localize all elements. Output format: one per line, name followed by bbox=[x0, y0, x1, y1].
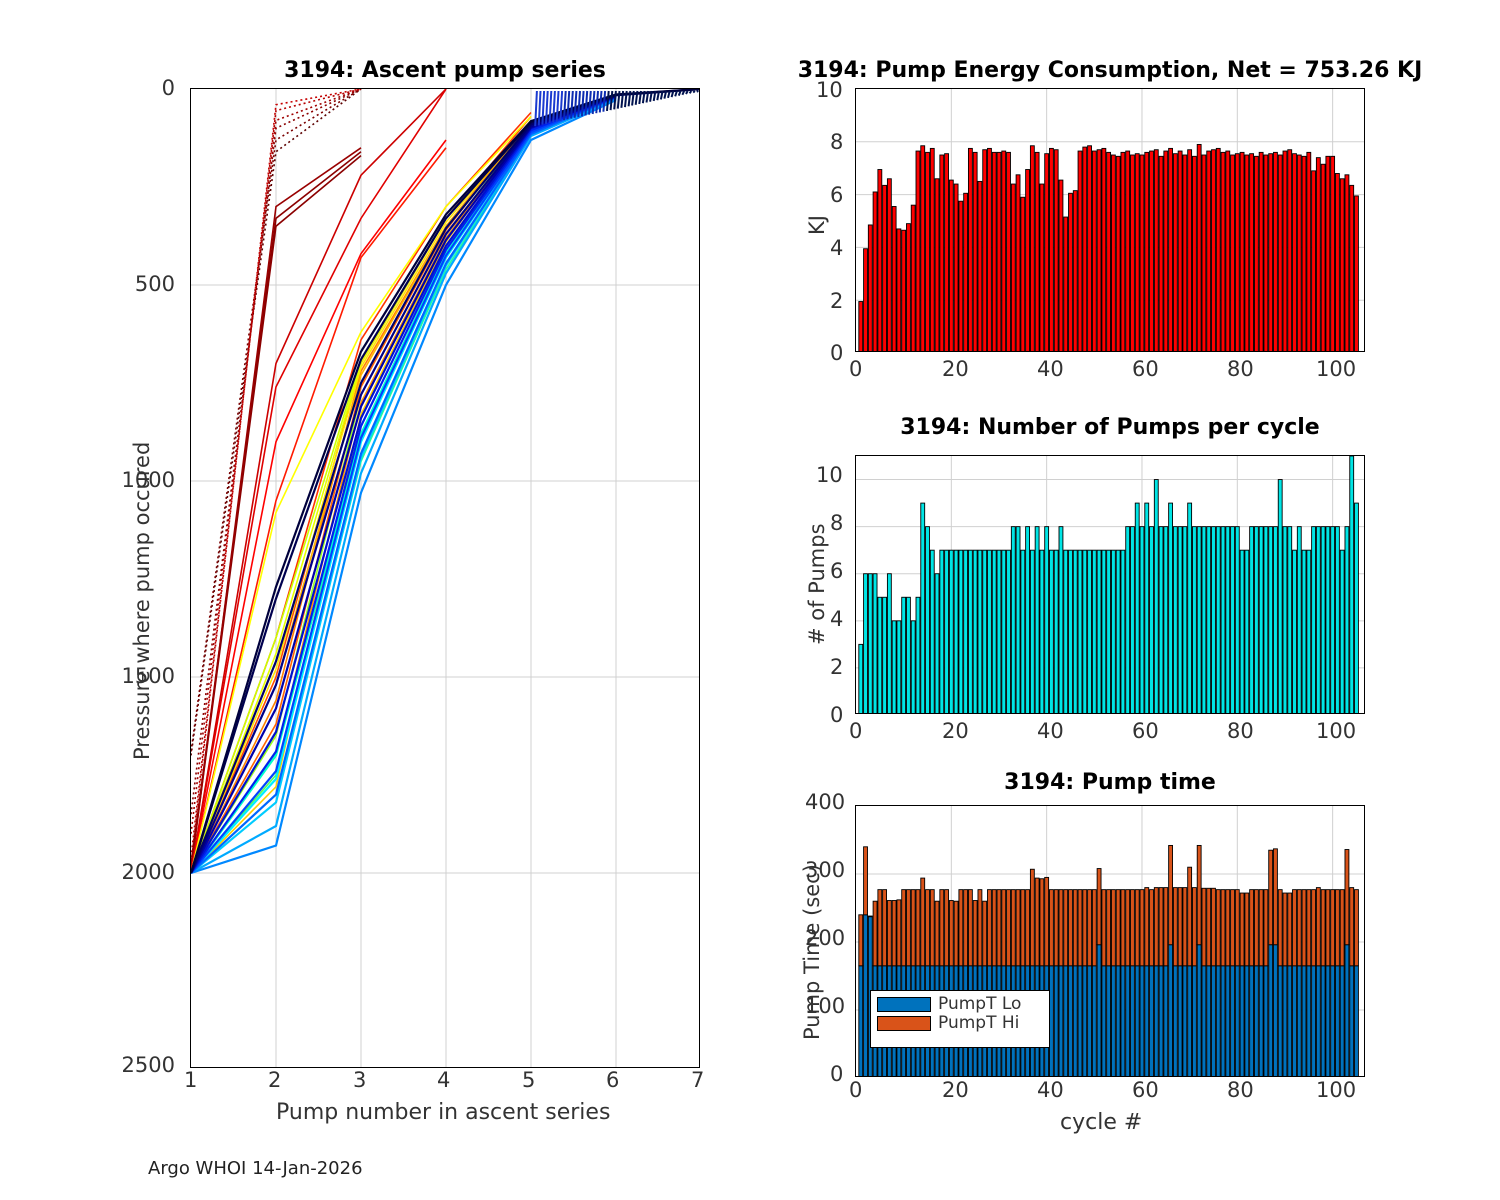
pumptime-xtick-0: 0 bbox=[849, 1078, 862, 1102]
ascent-pump-series-panel: 3194: Ascent pump series Pressure where … bbox=[0, 0, 740, 1140]
pumptime-plot-title: 3194: Pump time bbox=[860, 770, 1360, 795]
pumptime-ytick-100: 100 bbox=[805, 994, 845, 1018]
ascent-lines-svg bbox=[191, 89, 700, 1068]
ascent-xtick-7: 7 bbox=[691, 1068, 704, 1092]
ascent-ytick-1500: 1500 bbox=[122, 664, 175, 688]
ascent-x-axis-label: Pump number in ascent series bbox=[276, 1100, 610, 1125]
pumptime-xtick-40: 40 bbox=[1037, 1078, 1064, 1102]
ascent-plot-area bbox=[190, 88, 700, 1068]
legend-label-pumpt-lo: PumpT Lo bbox=[938, 996, 1021, 1013]
pumptime-x-axis-label: cycle # bbox=[1060, 1110, 1142, 1135]
energy-ytick-8: 8 bbox=[830, 130, 843, 154]
pumps-plot-area bbox=[855, 455, 1365, 714]
ascent-ytick-2000: 2000 bbox=[122, 860, 175, 884]
ascent-xtick-5: 5 bbox=[522, 1068, 535, 1092]
pumps-ytick-8: 8 bbox=[830, 511, 843, 535]
pumptime-xtick-100: 100 bbox=[1316, 1078, 1356, 1102]
pumps-ytick-4: 4 bbox=[830, 607, 843, 631]
ascent-xtick-2: 2 bbox=[268, 1068, 281, 1092]
energy-ytick-4: 4 bbox=[830, 236, 843, 260]
pumps-ytick-10: 10 bbox=[816, 463, 843, 487]
pumptime-xtick-20: 20 bbox=[942, 1078, 969, 1102]
energy-plot-title: 3194: Pump Energy Consumption, Net = 753… bbox=[760, 58, 1460, 83]
pumps-ytick-6: 6 bbox=[830, 559, 843, 583]
ascent-xtick-4: 4 bbox=[437, 1068, 450, 1092]
pumps-per-cycle-panel: 3194: Number of Pumps per cycle # of Pum… bbox=[760, 355, 1500, 745]
ascent-ytick-1000: 1000 bbox=[122, 468, 175, 492]
pumps-bars-svg bbox=[856, 456, 1365, 714]
pumptime-ytick-400: 400 bbox=[805, 790, 845, 814]
pumptime-ytick-200: 200 bbox=[805, 926, 845, 950]
pumps-ytick-2: 2 bbox=[830, 655, 843, 679]
figure-footer: Argo WHOI 14-Jan-2026 bbox=[148, 1158, 363, 1179]
legend-label-pumpt-hi: PumpT Hi bbox=[938, 1015, 1019, 1032]
energy-ytick-2: 2 bbox=[830, 289, 843, 313]
ascent-plot-title: 3194: Ascent pump series bbox=[190, 58, 700, 83]
legend-swatch-pumpt-hi bbox=[877, 1016, 931, 1031]
ascent-xtick-3: 3 bbox=[353, 1068, 366, 1092]
energy-plot-area bbox=[855, 88, 1365, 352]
ascent-ytick-0: 0 bbox=[162, 76, 175, 100]
legend-swatch-pumpt-lo bbox=[877, 997, 931, 1012]
ascent-xtick-1: 1 bbox=[184, 1068, 197, 1092]
ascent-ytick-2500: 2500 bbox=[122, 1053, 175, 1077]
energy-y-axis-label: KJ bbox=[805, 215, 829, 235]
pumptime-xtick-60: 60 bbox=[1132, 1078, 1159, 1102]
pumps-plot-title: 3194: Number of Pumps per cycle bbox=[820, 415, 1400, 440]
energy-ytick-6: 6 bbox=[830, 183, 843, 207]
pumptime-xtick-80: 80 bbox=[1227, 1078, 1254, 1102]
energy-ytick-10: 10 bbox=[816, 78, 843, 102]
ascent-xtick-6: 6 bbox=[606, 1068, 619, 1092]
ascent-ytick-500: 500 bbox=[135, 272, 175, 296]
pumptime-legend: PumpT Lo PumpT Hi bbox=[870, 990, 1050, 1048]
pump-energy-panel: 3194: Pump Energy Consumption, Net = 753… bbox=[760, 0, 1500, 390]
legend-row-pumpt-lo: PumpT Lo bbox=[877, 995, 1043, 1014]
pumptime-ytick-0: 0 bbox=[830, 1062, 843, 1086]
pump-time-panel: 3194: Pump time Pump Time (sec) cycle # … bbox=[760, 710, 1500, 1140]
pumps-y-axis-label: # of Pumps bbox=[805, 523, 829, 645]
pumptime-ytick-300: 300 bbox=[805, 858, 845, 882]
energy-bars-svg bbox=[856, 89, 1365, 352]
legend-row-pumpt-hi: PumpT Hi bbox=[877, 1014, 1043, 1033]
